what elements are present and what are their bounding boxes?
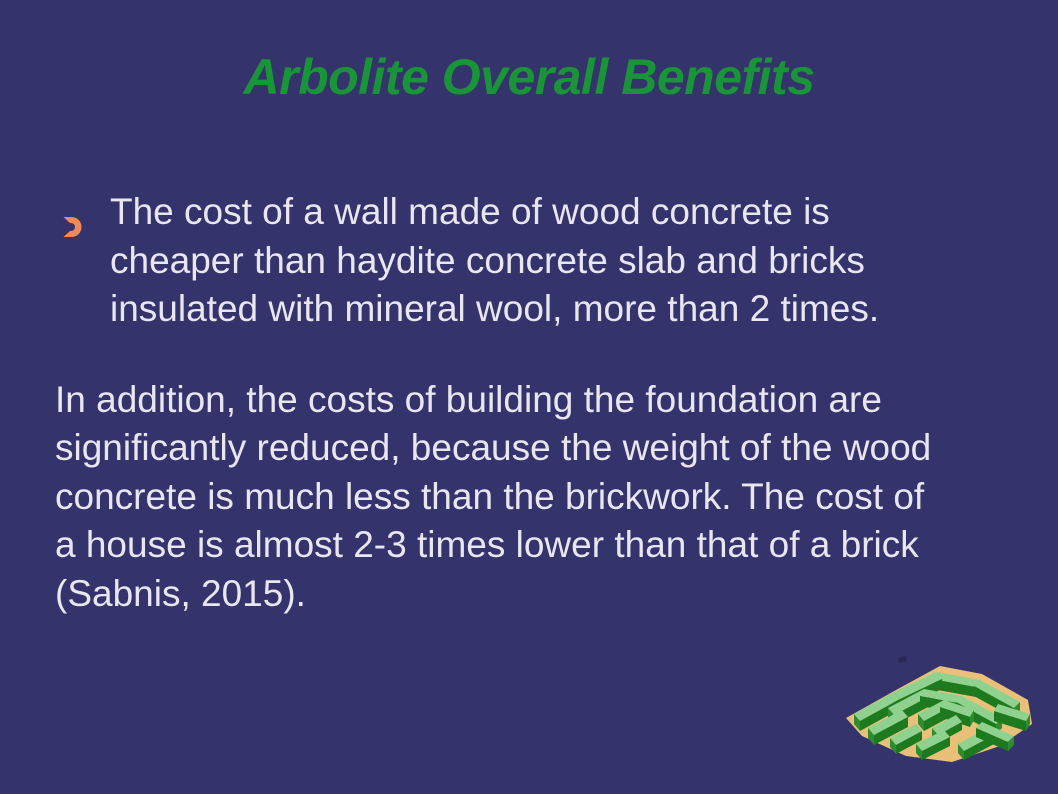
arc-bullet-icon: [59, 204, 85, 230]
slide-body: The cost of a wall made of wood concrete…: [0, 188, 1058, 618]
body-paragraph-text: In addition, the costs of building the f…: [55, 379, 931, 614]
maze-icon: [832, 652, 1048, 770]
page-title: Arbolite Overall Benefits: [0, 48, 1058, 106]
bullet-item-text: The cost of a wall made of wood concrete…: [110, 188, 950, 334]
bullet-list-item: The cost of a wall made of wood concrete…: [110, 188, 950, 334]
body-paragraph: In addition, the costs of building the f…: [55, 376, 955, 619]
presentation-slide: Arbolite Overall Benefits The cost of a …: [0, 0, 1058, 794]
